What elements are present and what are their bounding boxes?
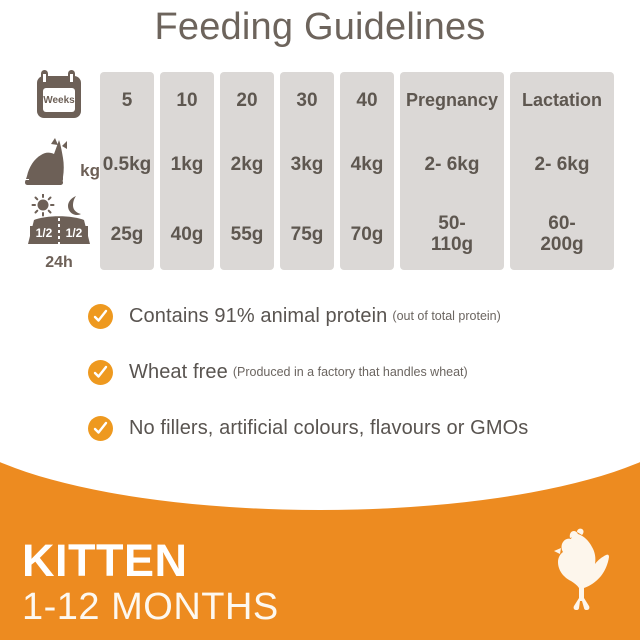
calendar-icon: Weeks (35, 68, 83, 125)
feeding-column: 303kg75g (280, 72, 334, 270)
cell-amount: 50-110g (400, 200, 504, 270)
cell-age: 10 (160, 72, 214, 130)
portion-right-label: 1/2 (66, 226, 83, 240)
cell-weight: 2kg (220, 130, 274, 200)
cell-amount: 25g (100, 200, 154, 270)
feeding-column: 101kg40g (160, 72, 214, 270)
feeding-column: 202kg55g (220, 72, 274, 270)
banner-title: KITTEN (22, 538, 188, 583)
check-circle-icon (88, 416, 113, 441)
bullet-text: Contains 91% animal protein (129, 305, 387, 328)
feeding-column: Pregnancy2- 6kg50-110g (400, 72, 504, 270)
cell-amount: 55g (220, 200, 274, 270)
kg-label: kg (80, 161, 100, 181)
bottom-banner: KITTEN 1-12 MONTHS (0, 452, 640, 640)
cell-age: 40 (340, 72, 394, 130)
cat-icon (20, 137, 76, 192)
cell-weight: 3kg (280, 130, 334, 200)
banner-subtitle: 1-12 MONTHS (22, 588, 279, 626)
feeding-column: 404kg70g (340, 72, 394, 270)
duration-label: 24h (45, 254, 73, 272)
cell-amount: 70g (340, 200, 394, 270)
cell-weight: 4kg (340, 130, 394, 200)
bullet-note: (out of total protein) (392, 309, 500, 323)
cell-amount: 40g (160, 200, 214, 270)
cell-weight: 0.5kg (100, 130, 154, 200)
feeding-columns: 50.5kg25g101kg40g202kg55g303kg75g404kg70… (100, 72, 614, 270)
feature-bullet: No fillers, artificial colours, flavours… (88, 415, 608, 441)
weeks-row-header: Weeks (18, 66, 100, 126)
cell-age: 5 (100, 72, 154, 130)
portions-row-header: 1/2 1/2 24h (18, 196, 100, 270)
cell-amount: 60-200g (510, 200, 614, 270)
cell-weight: 1kg (160, 130, 214, 200)
feeding-table: Weeks kg (0, 70, 640, 270)
feature-bullet: Contains 91% animal protein(out of total… (88, 303, 608, 329)
cell-age: Lactation (510, 72, 614, 130)
bullet-text: No fillers, artificial colours, flavours… (129, 417, 528, 440)
cell-amount: 75g (280, 200, 334, 270)
bullet-text: Wheat free (129, 361, 228, 384)
banner-curve-decoration (0, 452, 640, 510)
feeding-bowl-icon: 1/2 1/2 (22, 194, 96, 253)
page-title: Feeding Guidelines (0, 6, 640, 49)
chicken-icon (544, 528, 616, 619)
weight-row-header: kg (18, 136, 100, 192)
cell-weight: 2- 6kg (510, 130, 614, 200)
check-circle-icon (88, 304, 113, 329)
portion-left-label: 1/2 (36, 226, 53, 240)
feature-bullet: Wheat free(Produced in a factory that ha… (88, 359, 608, 385)
check-circle-icon (88, 360, 113, 385)
feature-bullets: Contains 91% animal protein(out of total… (88, 303, 608, 471)
cell-age: Pregnancy (400, 72, 504, 130)
bullet-note: (Produced in a factory that handles whea… (233, 365, 468, 379)
cell-age: 30 (280, 72, 334, 130)
row-icon-column: Weeks kg (18, 70, 100, 270)
cell-weight: 2- 6kg (400, 130, 504, 200)
feeding-column: 50.5kg25g (100, 72, 154, 270)
calendar-icon-label: Weeks (43, 95, 75, 106)
cell-age: 20 (220, 72, 274, 130)
feeding-column: Lactation2- 6kg60-200g (510, 72, 614, 270)
